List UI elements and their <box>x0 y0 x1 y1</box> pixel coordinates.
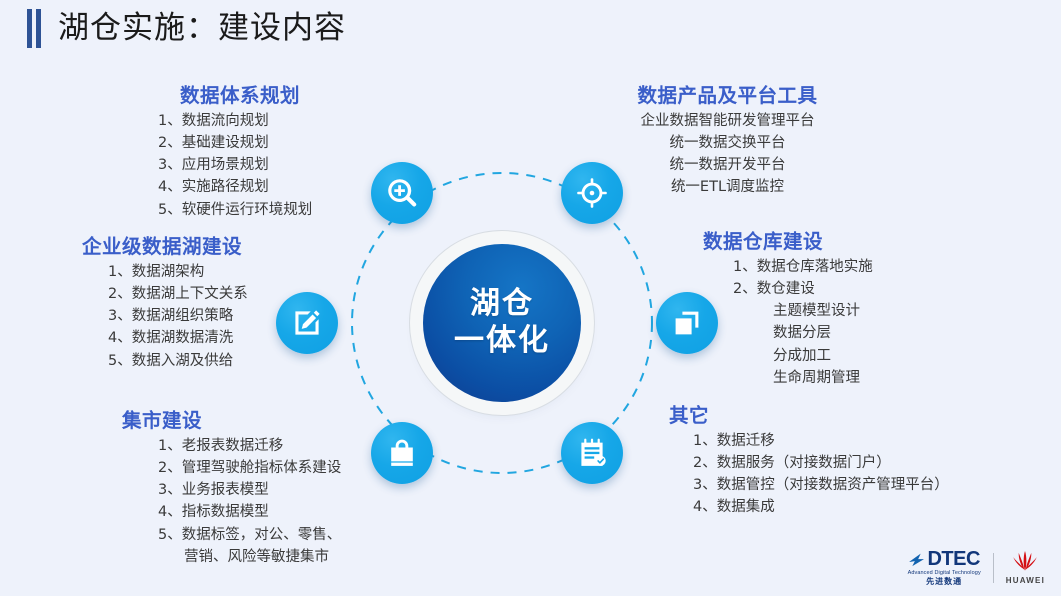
block-list: 1、数据迁移 2、数据服务（对接数据门户） 3、数据管控（对接数据资产管理平台）… <box>669 430 999 518</box>
list-item: 2、基础建设规划 <box>158 132 370 154</box>
notepad-check-icon <box>576 437 608 469</box>
list-item: 3、业务报表模型 <box>158 479 372 501</box>
list-item: 3、应用场景规划 <box>158 154 370 176</box>
list-item: 数据分层 <box>773 322 953 344</box>
block-heading: 数据产品及平台工具 <box>595 84 860 108</box>
block-list: 企业数据智能研发管理平台 统一数据交换平台 统一数据开发平台 统一ETL调度监控 <box>595 110 860 198</box>
huawei-wordmark: HUAWEI <box>1006 576 1045 585</box>
list-item: 统一ETL调度监控 <box>595 176 860 198</box>
list-item: 1、老报表数据迁移 <box>158 435 372 457</box>
block-list: 1、数据流向规划 2、基础建设规划 3、应用场景规划 4、实施路径规划 5、软硬… <box>110 110 370 220</box>
block-list: 1、数据湖架构 2、数据湖上下文关系 3、数据湖组织策略 4、数据湖数据清洗 5… <box>82 261 297 371</box>
dtec-arrow-icon <box>908 552 925 567</box>
dtec-wordmark: DTEC <box>927 549 979 569</box>
block-heading: 其它 <box>669 404 999 428</box>
list-item: 3、数据湖组织策略 <box>108 305 297 327</box>
center-line-2: 一体化 <box>454 323 550 360</box>
title-accent-bars <box>27 9 41 48</box>
list-item: 1、数据仓库落地实施 <box>733 256 953 278</box>
list-item: 4、实施路径规划 <box>158 176 370 198</box>
list-item: 企业数据智能研发管理平台 <box>595 110 860 132</box>
list-item: 2、数仓建设 <box>733 278 953 300</box>
block-list: 1、老报表数据迁移 2、管理驾驶舱指标体系建设 3、业务报表模型 4、指标数据模… <box>122 435 372 567</box>
list-item: 2、数据湖上下文关系 <box>108 283 297 305</box>
copy-layers-icon <box>671 307 703 339</box>
block-heading: 集市建设 <box>122 409 372 433</box>
slide-root: 湖仓实施：建设内容 湖仓 一体化 <box>0 0 1061 596</box>
center-line-1: 湖仓 <box>470 286 534 323</box>
page-title-text: 湖仓实施：建设内容 <box>58 13 346 44</box>
block-sublist: 主题模型设计 数据分层 分成加工 生命周期管理 <box>703 300 953 388</box>
block-data-system-planning: 数据体系规划 1、数据流向规划 2、基础建设规划 3、应用场景规划 4、实施路径… <box>110 84 370 221</box>
list-item: 分成加工 <box>773 345 953 367</box>
block-data-products-platform: 数据产品及平台工具 企业数据智能研发管理平台 统一数据交换平台 统一数据开发平台… <box>595 84 860 199</box>
block-heading: 数据仓库建设 <box>703 230 953 254</box>
list-item: 1、数据流向规划 <box>158 110 370 132</box>
node-data-mart[interactable] <box>371 422 433 484</box>
dtec-logo: DTEC Advanced Digital Technology 先进数通 <box>908 549 981 586</box>
list-item: 生命周期管理 <box>773 367 953 389</box>
huawei-logo: HUAWEI <box>1006 550 1045 585</box>
block-heading: 数据体系规划 <box>110 84 370 108</box>
list-item: 4、数据集成 <box>693 496 999 518</box>
list-item: 3、数据管控（对接数据资产管理平台） <box>693 474 999 496</box>
list-item: 主题模型设计 <box>773 300 953 322</box>
dtec-tagline: Advanced Digital Technology <box>908 571 981 577</box>
list-item: 4、指标数据模型 <box>158 501 372 523</box>
block-data-mart: 集市建设 1、老报表数据迁移 2、管理驾驶舱指标体系建设 3、业务报表模型 4、… <box>122 409 372 568</box>
list-item: 2、管理驾驶舱指标体系建设 <box>158 457 372 479</box>
list-item: 1、数据湖架构 <box>108 261 297 283</box>
list-item: 5、数据入湖及供给 <box>108 350 297 372</box>
list-item: 统一数据交换平台 <box>595 132 860 154</box>
list-item: 2、数据服务（对接数据门户） <box>693 452 999 474</box>
logo-bar: DTEC Advanced Digital Technology 先进数通 HU… <box>908 549 1045 586</box>
block-list: 1、数据仓库落地实施 2、数仓建设 <box>703 256 953 300</box>
list-item: 5、软硬件运行环境规划 <box>158 199 370 221</box>
block-heading: 企业级数据湖建设 <box>82 235 297 259</box>
block-data-warehouse: 数据仓库建设 1、数据仓库落地实施 2、数仓建设 主题模型设计 数据分层 分成加… <box>703 230 953 389</box>
list-item: 4、数据湖数据清洗 <box>108 327 297 349</box>
block-enterprise-data-lake: 企业级数据湖建设 1、数据湖架构 2、数据湖上下文关系 3、数据湖组织策略 4、… <box>82 235 297 372</box>
node-data-system-planning[interactable] <box>371 162 433 224</box>
huawei-flower-icon <box>1008 550 1042 574</box>
block-others: 其它 1、数据迁移 2、数据服务（对接数据门户） 3、数据管控（对接数据资产管理… <box>669 404 999 519</box>
page-title: 湖仓实施：建设内容 <box>27 9 346 48</box>
dtec-chinese-name: 先进数通 <box>926 578 962 586</box>
node-others[interactable] <box>561 422 623 484</box>
center-circle: 湖仓 一体化 <box>423 244 581 402</box>
shopping-bag-icon <box>386 437 418 469</box>
magnifier-plus-icon <box>386 177 418 209</box>
list-item-continuation: 营销、风险等敏捷集市 <box>158 546 372 568</box>
list-item: 5、数据标签，对公、零售、 <box>158 524 372 546</box>
list-item: 1、数据迁移 <box>693 430 999 452</box>
list-item: 统一数据开发平台 <box>595 154 860 176</box>
logo-divider <box>993 553 994 583</box>
